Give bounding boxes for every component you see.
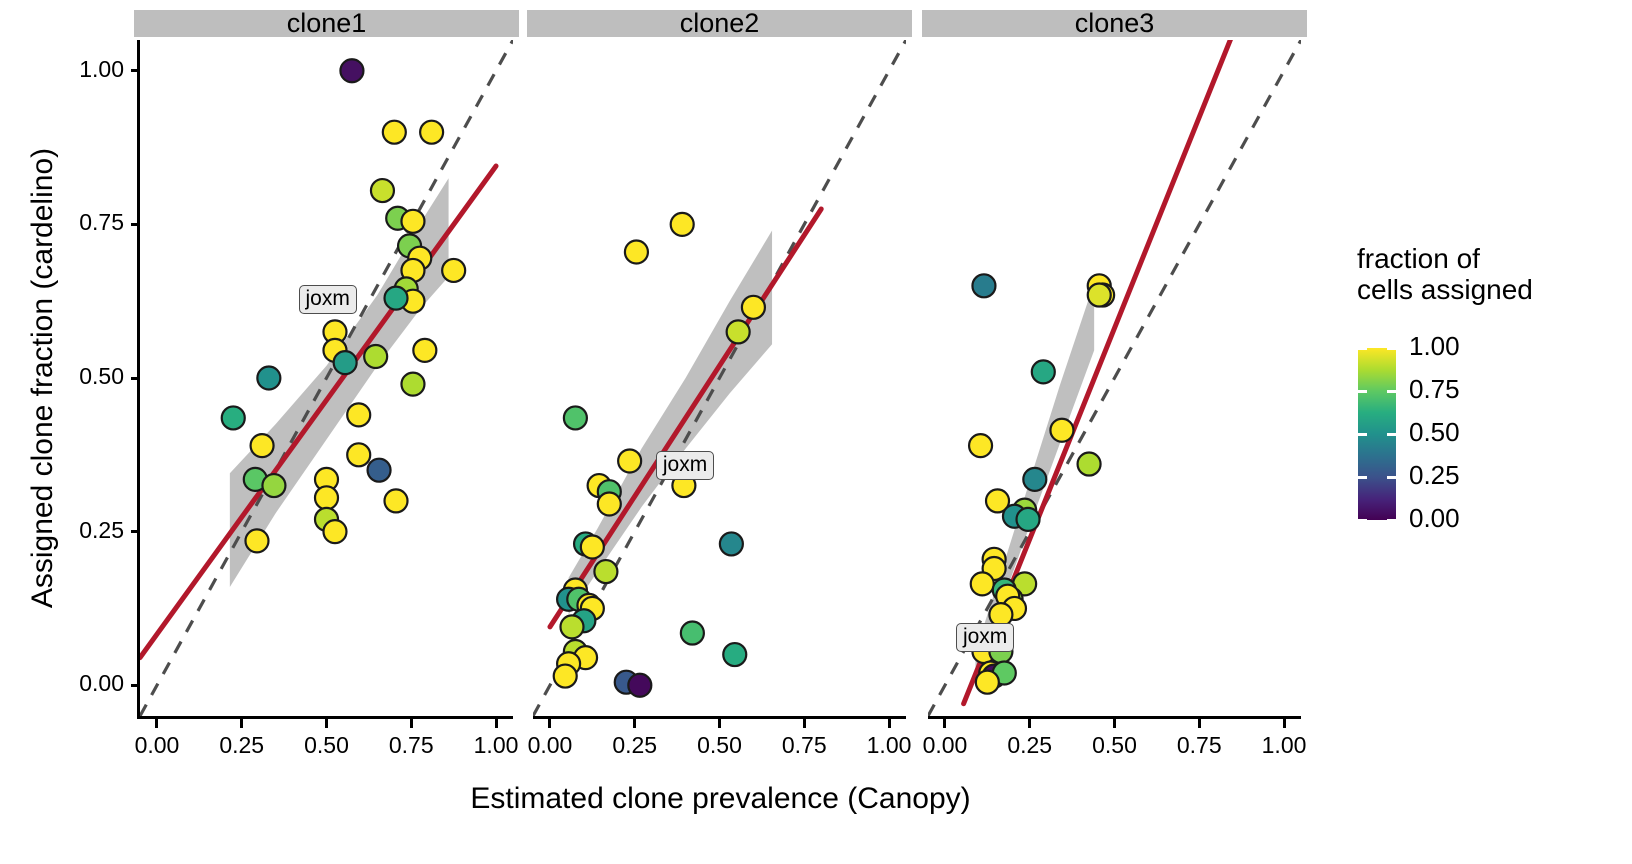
y-tick-label: 0.25 — [30, 517, 124, 544]
data-point — [1003, 505, 1026, 528]
data-point — [581, 597, 604, 620]
data-point — [413, 339, 436, 362]
data-point — [347, 403, 370, 426]
facet-strip-clone2: clone2 — [527, 10, 912, 37]
data-point — [588, 474, 611, 497]
data-point — [368, 459, 391, 482]
y-axis-line — [137, 40, 140, 719]
x-tick-mark — [803, 719, 806, 728]
data-point — [385, 489, 408, 512]
data-point — [386, 207, 409, 230]
legend-tick-label: 0.00 — [1409, 503, 1460, 534]
x-tick-label: 0.00 — [905, 732, 985, 759]
x-tick-mark — [1113, 719, 1116, 728]
data-point — [971, 572, 994, 595]
data-point — [1050, 419, 1073, 442]
data-point — [401, 373, 424, 396]
data-point — [983, 557, 1006, 580]
point-label-joxm: joxm — [656, 451, 714, 480]
chart-root: Assigned clone fraction (cardelino) Esti… — [0, 0, 1632, 864]
data-point — [371, 179, 394, 202]
data-point — [727, 320, 750, 343]
x-tick-label: 0.00 — [510, 732, 590, 759]
x-tick-mark — [888, 719, 891, 728]
data-point — [244, 468, 267, 491]
data-point — [567, 588, 590, 611]
y-tick-label: 0.75 — [30, 209, 124, 236]
legend-tick-mark — [1387, 347, 1396, 350]
x-tick-mark — [155, 719, 158, 728]
regression-line — [964, 37, 1232, 704]
legend-tick-label: 1.00 — [1409, 331, 1460, 362]
data-point — [1078, 453, 1101, 476]
x-tick-label: 0.00 — [117, 732, 197, 759]
regression-line — [140, 166, 496, 658]
data-point — [979, 661, 1002, 684]
data-point — [618, 449, 641, 472]
data-point — [401, 259, 424, 282]
data-point — [222, 406, 245, 429]
x-tick-mark — [718, 719, 721, 728]
data-point — [340, 59, 363, 82]
data-point — [420, 121, 443, 144]
legend-tick-mark — [1358, 347, 1367, 350]
data-point — [1017, 508, 1040, 531]
x-tick-label: 0.50 — [680, 732, 760, 759]
data-point — [401, 210, 424, 233]
x-tick-label: 0.75 — [764, 732, 844, 759]
x-tick-label: 0.50 — [1075, 732, 1155, 759]
data-point — [385, 287, 408, 310]
data-point — [323, 520, 346, 543]
data-point — [1013, 499, 1036, 522]
y-tick-label: 0.50 — [30, 363, 124, 390]
data-point — [986, 489, 1009, 512]
data-point — [993, 579, 1016, 602]
x-tick-label: 0.50 — [287, 732, 367, 759]
data-point — [262, 474, 285, 497]
facet-strip-clone1: clone1 — [134, 10, 519, 37]
point-label-joxm: joxm — [299, 285, 357, 314]
data-point — [581, 536, 604, 559]
data-point — [315, 468, 338, 491]
data-point — [720, 532, 743, 555]
legend-tick-label: 0.50 — [1409, 417, 1460, 448]
x-tick-mark — [548, 719, 551, 728]
data-point — [401, 290, 424, 313]
data-point — [251, 434, 274, 457]
data-point — [334, 351, 357, 374]
data-point — [1003, 597, 1026, 620]
data-point — [442, 259, 465, 282]
data-point — [564, 640, 587, 663]
identity-reference-line — [533, 40, 906, 716]
facet-strip-clone3: clone3 — [922, 10, 1307, 37]
data-point — [671, 213, 694, 236]
identity-reference-line — [140, 40, 513, 716]
x-tick-mark — [1028, 719, 1031, 728]
legend-title: fraction of cells assigned — [1357, 243, 1533, 306]
data-point — [625, 241, 648, 264]
data-point — [1091, 284, 1114, 307]
x-tick-label: 1.00 — [1244, 732, 1324, 759]
data-point — [969, 434, 992, 457]
facet-strip-label: clone2 — [680, 8, 760, 39]
data-point — [398, 234, 421, 257]
legend-tick-mark — [1358, 476, 1367, 479]
legend-tick-mark — [1387, 476, 1396, 479]
legend-tick-mark — [1358, 390, 1367, 393]
x-tick-mark — [325, 719, 328, 728]
data-point — [723, 643, 746, 666]
data-point — [564, 579, 587, 602]
y-tick-label: 0.00 — [30, 670, 124, 697]
data-point — [1088, 274, 1111, 297]
data-point — [1013, 572, 1036, 595]
data-point — [1032, 360, 1055, 383]
x-tick-mark — [410, 719, 413, 728]
legend-tick-mark — [1358, 433, 1367, 436]
x-tick-label: 0.25 — [990, 732, 1070, 759]
confidence-ribbon — [975, 283, 1094, 679]
data-point — [574, 532, 597, 555]
data-point — [574, 646, 597, 669]
data-point — [972, 274, 995, 297]
data-point — [395, 277, 418, 300]
legend-tick-label: 0.75 — [1409, 374, 1460, 405]
legend-tick-label: 0.25 — [1409, 460, 1460, 491]
x-tick-label: 0.25 — [202, 732, 282, 759]
data-point — [245, 529, 268, 552]
facet-strip-label: clone3 — [1075, 8, 1155, 39]
data-point — [383, 121, 406, 144]
legend-tick-mark — [1387, 519, 1396, 522]
data-point — [615, 671, 638, 694]
y-tick-label: 1.00 — [30, 56, 124, 83]
confidence-ribbon — [569, 231, 772, 615]
data-point — [315, 508, 338, 531]
x-tick-mark — [495, 719, 498, 728]
x-tick-mark — [240, 719, 243, 728]
data-point — [315, 486, 338, 509]
data-point — [996, 585, 1019, 608]
data-point — [983, 548, 1006, 571]
data-point — [983, 665, 1006, 688]
legend-tick-mark — [1387, 390, 1396, 393]
data-point — [577, 594, 600, 617]
x-axis-title: Estimated clone prevalence (Canopy) — [140, 782, 1301, 816]
legend-tick-mark — [1387, 433, 1396, 436]
point-label-joxm: joxm — [956, 623, 1014, 652]
data-point — [681, 622, 704, 645]
data-point — [408, 247, 431, 270]
data-point — [572, 609, 595, 632]
data-point — [257, 367, 280, 390]
data-point — [976, 671, 999, 694]
facet-strip-label: clone1 — [287, 8, 367, 39]
data-point — [993, 661, 1016, 684]
data-point — [628, 674, 651, 697]
x-tick-mark — [1198, 719, 1201, 728]
x-tick-mark — [943, 719, 946, 728]
data-point — [1000, 588, 1023, 611]
data-point — [364, 345, 387, 368]
data-point — [323, 320, 346, 343]
data-point — [564, 406, 587, 429]
x-tick-label: 0.75 — [371, 732, 451, 759]
data-point — [1023, 468, 1046, 491]
data-point — [560, 615, 583, 638]
data-point — [554, 665, 577, 688]
data-point — [598, 492, 621, 515]
data-point — [598, 480, 621, 503]
confidence-ribbon — [230, 178, 449, 587]
x-tick-mark — [1283, 719, 1286, 728]
legend-tick-mark — [1358, 519, 1367, 522]
x-tick-mark — [633, 719, 636, 728]
x-tick-label: 0.75 — [1159, 732, 1239, 759]
regression-line — [550, 209, 821, 627]
identity-reference-line — [928, 40, 1301, 716]
data-point — [557, 652, 580, 675]
data-point — [347, 443, 370, 466]
x-tick-label: 0.25 — [595, 732, 675, 759]
data-point — [594, 560, 617, 583]
data-point — [323, 339, 346, 362]
data-point — [1088, 284, 1111, 307]
data-point — [742, 296, 765, 319]
data-point — [557, 588, 580, 611]
